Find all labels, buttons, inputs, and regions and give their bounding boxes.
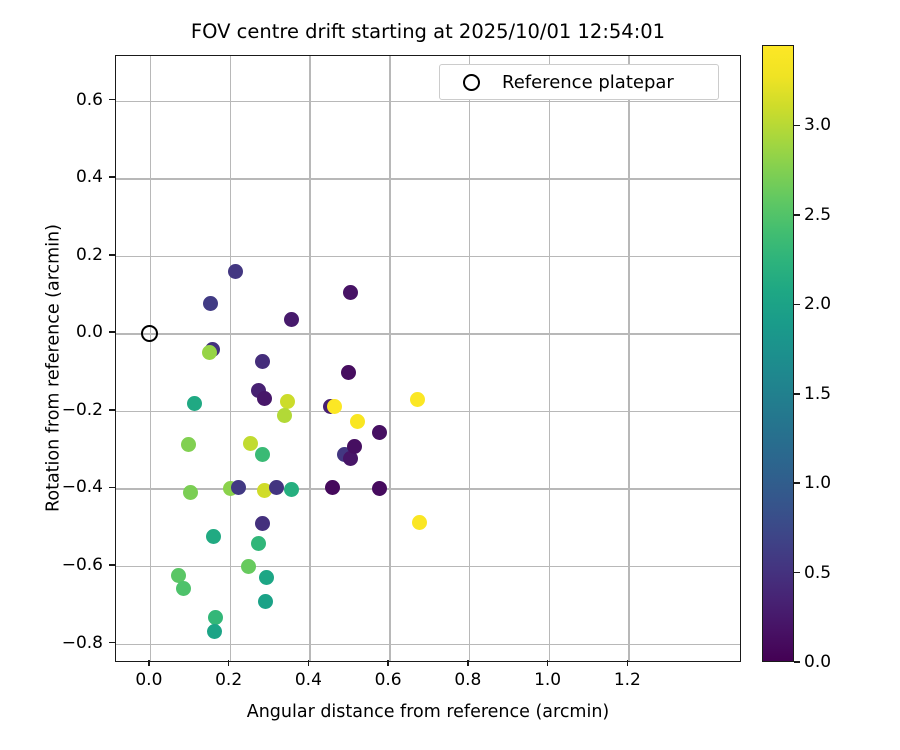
scatter-point[interactable] [277, 408, 292, 423]
scatter-point[interactable] [181, 437, 196, 452]
gridline-horizontal [116, 488, 740, 489]
scatter-point[interactable] [341, 365, 356, 380]
colorbar-tick-label: 2.0 [804, 294, 831, 314]
colorbar-tick [794, 482, 800, 484]
scatter-point[interactable] [410, 392, 425, 407]
x-axis-tick-label: 0.2 [215, 670, 242, 690]
y-axis-tick [109, 564, 115, 566]
gridline-horizontal [116, 411, 740, 412]
y-axis-tick-label: −0.8 [15, 633, 103, 653]
colorbar-tick [794, 661, 800, 663]
scatter-point[interactable] [206, 529, 221, 544]
y-axis-tick-label: 0.6 [15, 90, 103, 110]
x-axis-tick-label: 0.4 [295, 670, 322, 690]
y-axis-tick [109, 331, 115, 333]
gridline-horizontal [116, 178, 740, 179]
scatter-point[interactable] [347, 439, 362, 454]
colorbar-tick [794, 125, 800, 127]
scatter-point[interactable] [372, 481, 387, 496]
x-axis-tick [387, 660, 389, 666]
colorbar-tick-label: 0.0 [804, 652, 831, 672]
scatter-point[interactable] [325, 480, 340, 495]
gridline-vertical [469, 56, 470, 661]
x-axis-tick-label: 0.0 [135, 670, 162, 690]
scatter-point[interactable] [372, 425, 387, 440]
colorbar[interactable]: 0.00.51.01.52.02.53.0 [762, 45, 794, 662]
colorbar-tick-label: 1.5 [804, 384, 831, 404]
x-axis-tick [308, 660, 310, 666]
gridline-horizontal [116, 644, 740, 645]
scatter-point[interactable] [284, 482, 299, 497]
x-axis-tick [627, 660, 629, 666]
gridline-vertical [230, 56, 231, 661]
colorbar-tick-label: 1.0 [804, 473, 831, 493]
colorbar-tick [794, 572, 800, 574]
gridline-horizontal [116, 101, 740, 102]
scatter-point[interactable] [207, 624, 222, 639]
colorbar-tick-label: 3.0 [804, 115, 831, 135]
colorbar-tick [794, 393, 800, 395]
colorbar-tick-label: 0.5 [804, 563, 831, 583]
scatter-point[interactable] [251, 536, 266, 551]
y-axis-tick-label: −0.2 [15, 400, 103, 420]
gridline-vertical [150, 56, 151, 661]
gridline-vertical [549, 56, 550, 661]
legend-marker-box [440, 74, 502, 91]
y-axis-tick [109, 254, 115, 256]
gridline-vertical [628, 56, 629, 661]
x-axis-tick [547, 660, 549, 666]
page-title: FOV centre drift starting at 2025/10/01 … [115, 20, 741, 43]
scatter-point[interactable] [280, 394, 295, 409]
y-axis-tick [109, 99, 115, 101]
scatter-point[interactable] [258, 594, 273, 609]
x-axis-tick [148, 660, 150, 666]
gridline-vertical [389, 56, 390, 661]
y-axis-tick-label: 0.2 [15, 245, 103, 265]
scatter-point[interactable] [202, 345, 217, 360]
gridline-horizontal [116, 333, 740, 334]
legend-item-label: Reference platepar [502, 72, 674, 93]
x-axis-tick [228, 660, 230, 666]
scatter-point[interactable] [255, 354, 270, 369]
scatter-point[interactable] [269, 480, 284, 495]
scatter-point[interactable] [203, 296, 218, 311]
reference-platepar-circle-icon [463, 74, 480, 91]
scatter-point[interactable] [412, 515, 427, 530]
scatter-point[interactable] [231, 480, 246, 495]
scatter-point[interactable] [183, 485, 198, 500]
x-axis-tick-label: 1.0 [534, 670, 561, 690]
y-axis-tick [109, 176, 115, 178]
figure-canvas: FOV centre drift starting at 2025/10/01 … [0, 0, 900, 750]
scatter-point[interactable] [257, 391, 272, 406]
y-axis-tick-label: −0.4 [15, 477, 103, 497]
y-axis-label: Rotation from reference (arcmin) [44, 65, 64, 672]
y-axis-tick [109, 642, 115, 644]
colorbar-gradient [762, 45, 794, 662]
x-axis-tick [467, 660, 469, 666]
scatter-point[interactable] [255, 516, 270, 531]
x-axis-tick-label: 1.2 [614, 670, 641, 690]
gridline-horizontal [116, 566, 740, 567]
x-axis-label: Angular distance from reference (arcmin) [115, 702, 741, 722]
y-axis-tick [109, 409, 115, 411]
y-axis-tick [109, 487, 115, 489]
colorbar-tick [794, 214, 800, 216]
scatter-point[interactable] [350, 414, 365, 429]
scatter-point[interactable] [284, 312, 299, 327]
x-axis-tick-label: 0.6 [375, 670, 402, 690]
colorbar-tick [794, 304, 800, 306]
scatter-point[interactable] [228, 264, 243, 279]
reference-platepar-marker[interactable] [141, 325, 158, 342]
y-axis-tick-label: −0.6 [15, 555, 103, 575]
scatter-point[interactable] [208, 610, 223, 625]
scatter-point[interactable] [187, 396, 202, 411]
scatter-point[interactable] [255, 447, 270, 462]
scatter-point[interactable] [259, 570, 274, 585]
colorbar-tick-label: 2.5 [804, 205, 831, 225]
legend[interactable]: Reference platepar [439, 64, 719, 100]
gridline-vertical [309, 56, 310, 661]
y-axis-tick-label: 0.0 [15, 322, 103, 342]
scatter-point[interactable] [241, 559, 256, 574]
scatter-point[interactable] [176, 581, 191, 596]
x-axis-tick-label: 0.8 [454, 670, 481, 690]
plot-area[interactable] [115, 55, 741, 662]
y-axis-tick-label: 0.4 [15, 167, 103, 187]
scatter-point[interactable] [343, 285, 358, 300]
gridline-horizontal [116, 256, 740, 257]
